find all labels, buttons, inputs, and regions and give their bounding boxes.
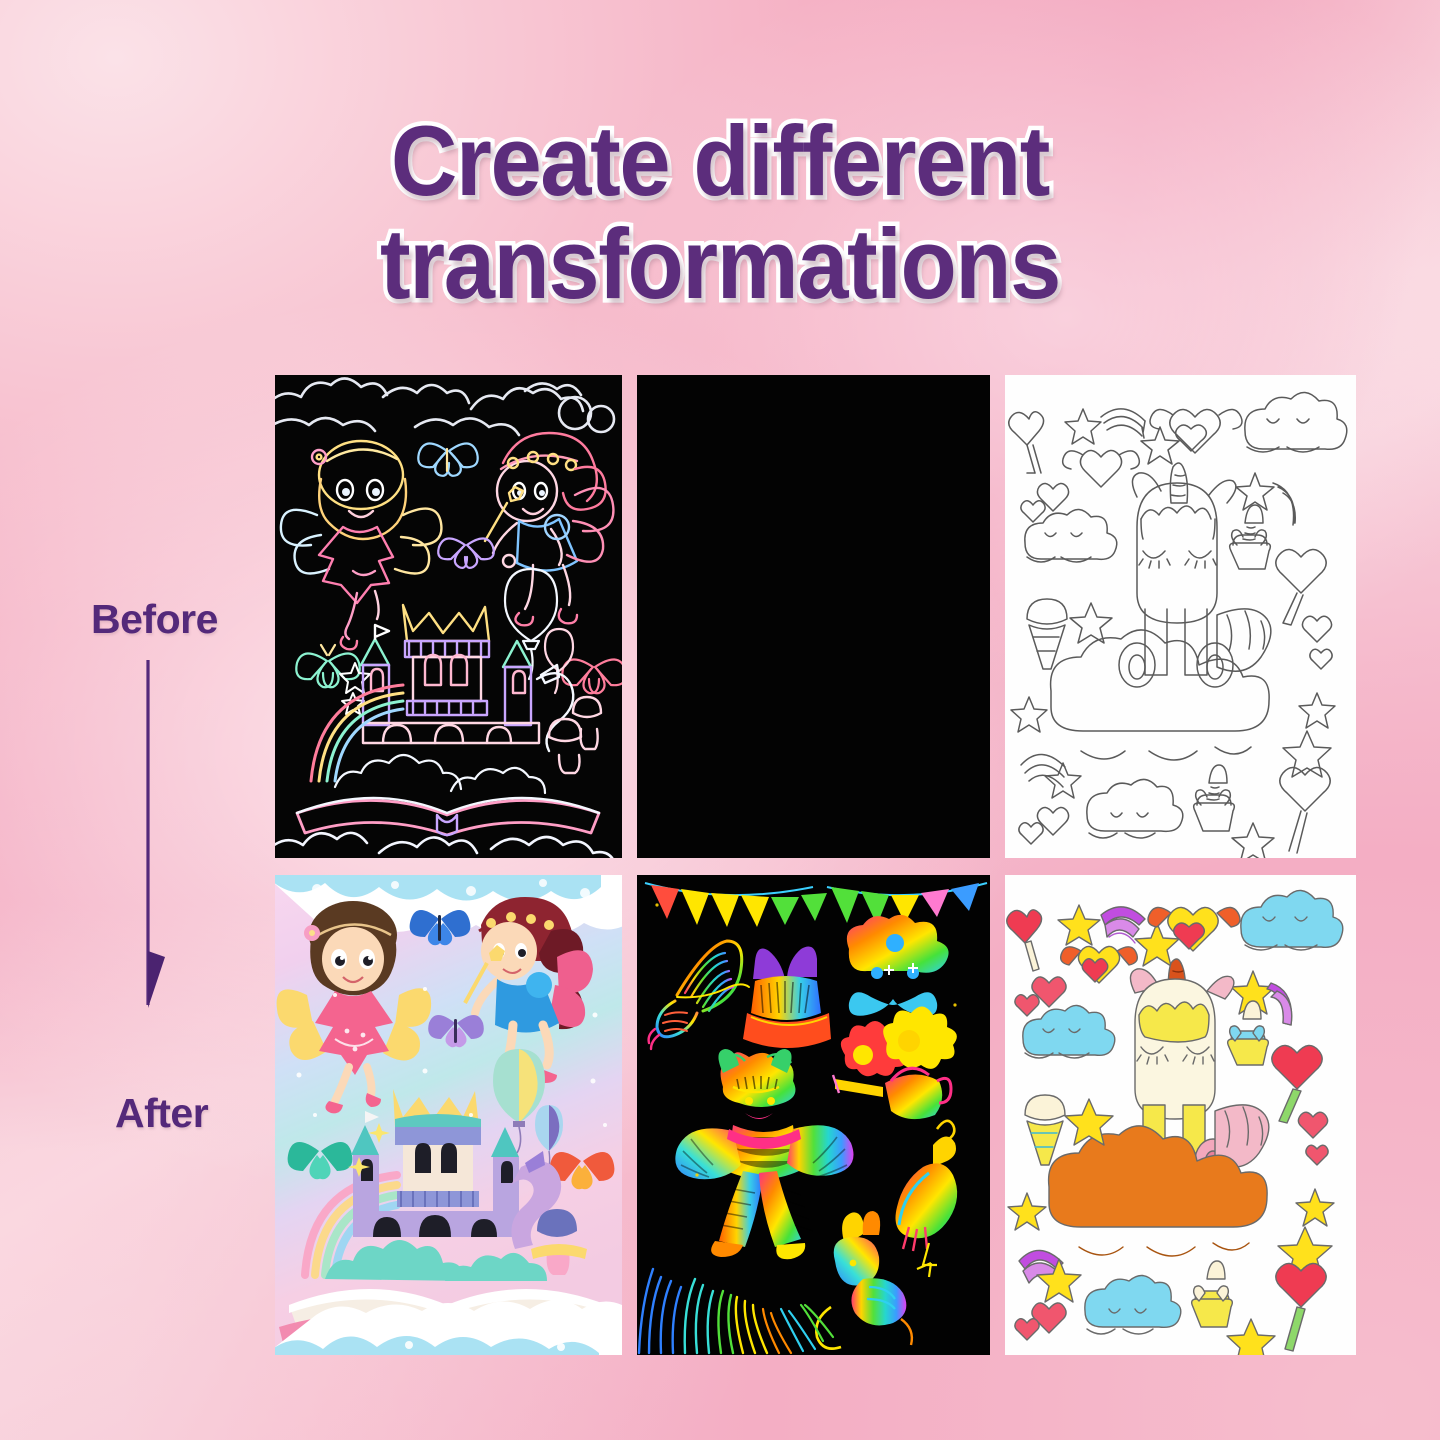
panel-unicorn-colored[interactable]: [1005, 875, 1356, 1355]
panel-fairy-color[interactable]: [275, 875, 622, 1355]
panel-unicorn-outline[interactable]: [1005, 375, 1356, 858]
after-label: After: [115, 1090, 208, 1137]
down-arrow-icon: [120, 660, 184, 1010]
panel-fairy-scratch[interactable]: [275, 375, 622, 858]
panel-blank-black[interactable]: [637, 375, 990, 858]
panel-freehand-scratch[interactable]: [637, 875, 990, 1355]
before-label: Before: [91, 596, 218, 643]
comparison-grid: [275, 375, 1356, 1355]
